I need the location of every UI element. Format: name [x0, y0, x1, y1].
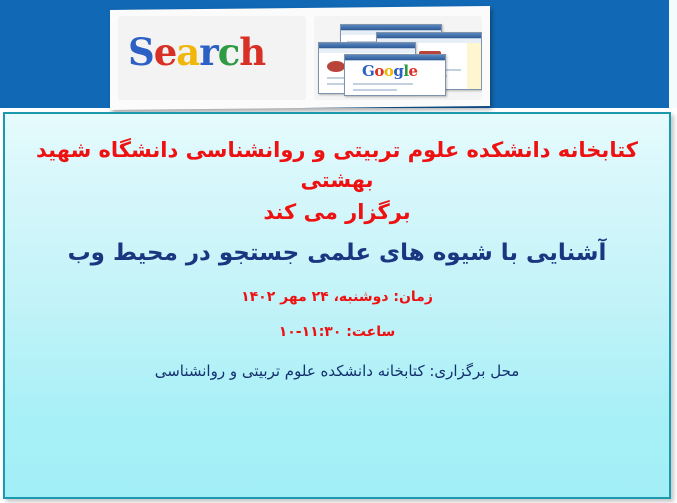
google-letter-g: G [362, 62, 374, 80]
organizer-line-1: کتابخانه دانشکده علوم تربیتی و روانشناسی… [21, 136, 653, 196]
organizer-line-2: برگزار می کند [21, 198, 653, 228]
content-line [353, 83, 413, 85]
browser-sidebar [467, 43, 481, 89]
browser-titlebar [345, 55, 445, 61]
content-logo [327, 61, 345, 72]
google-wordmark: Google [362, 62, 418, 80]
google-letter-o1: o [374, 62, 384, 80]
google-letter-e: e [409, 62, 418, 80]
search-letter-c: c [218, 34, 240, 71]
event-title: آشنایی با شیوه های علمی جستجو در محیط وب [21, 237, 653, 269]
search-letter-e: e [154, 34, 177, 71]
event-poster: Search [0, 0, 677, 503]
header-right-edge-strip [669, 0, 677, 108]
search-wordmark: Search [128, 34, 265, 71]
search-letter-s: S [128, 34, 154, 71]
poster-content-inner: کتابخانه دانشکده علوم تربیتی و روانشناسی… [5, 114, 669, 497]
poster-content-panel: کتابخانه دانشکده علوم تربیتی و روانشناسی… [3, 112, 671, 499]
event-time: ساعت: ۱۱:۳۰-۱۰ [21, 323, 653, 343]
search-letter-a: a [176, 34, 199, 71]
banner-panel-search: Search [118, 16, 306, 100]
search-banner-image: Search [110, 6, 490, 110]
event-date: زمان: دوشنبه، ۲۴ مهر ۱۴۰۲ [21, 288, 653, 308]
banner-inner: Search [110, 8, 490, 108]
event-venue: محل برگزاری: کتابخانه دانشکده علوم تربیت… [21, 361, 653, 382]
search-letter-h: h [239, 34, 265, 71]
google-letter-g2: g [393, 62, 403, 80]
content-line [353, 89, 397, 91]
google-letter-o2: o [384, 62, 394, 80]
banner-panel-browsers: Google [314, 16, 482, 100]
search-letter-r: r [199, 34, 218, 71]
